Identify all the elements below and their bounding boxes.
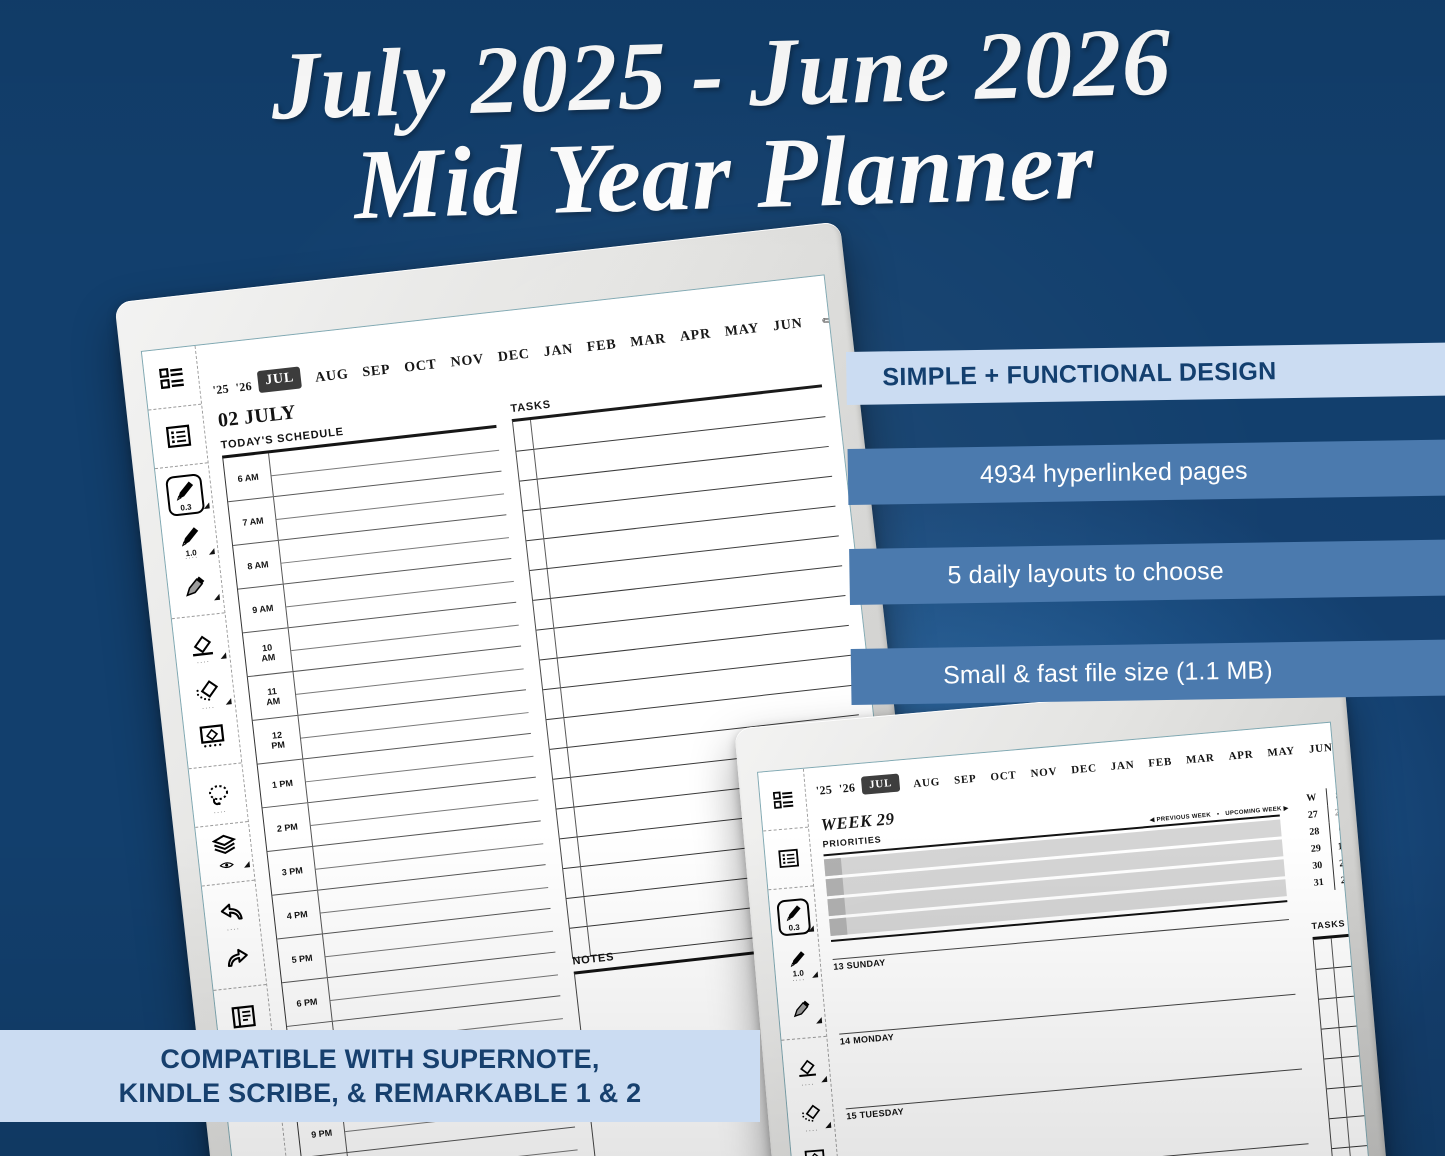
layers-icon bbox=[211, 833, 239, 875]
month-tab-may[interactable]: MAY bbox=[724, 321, 760, 341]
lasso-select-icon bbox=[205, 782, 232, 809]
toolbar-pen-fine[interactable]: 0.3 bbox=[769, 892, 818, 942]
month-tab-jun[interactable]: JUN bbox=[772, 316, 803, 335]
page-template-icon bbox=[230, 1004, 257, 1031]
toolbar-lasso-select[interactable]: ···· bbox=[189, 769, 247, 821]
hour-label: 4 PM bbox=[272, 891, 323, 939]
list-view-icon bbox=[777, 848, 799, 870]
tool-divider-dots: ···· bbox=[801, 1081, 815, 1089]
month-tab-jan[interactable]: JAN bbox=[543, 342, 574, 361]
year-tab-2[interactable]: '26 bbox=[838, 780, 855, 796]
feature-item-label: Small & fast file size (1.1 MB) bbox=[887, 656, 1273, 691]
toolbar-eraser-area[interactable] bbox=[790, 1134, 839, 1156]
toolbar-eraser-partial[interactable]: ···· bbox=[786, 1089, 835, 1139]
pen-fine-icon: 0.3 bbox=[776, 898, 811, 937]
hour-label: 5 PM bbox=[277, 934, 328, 982]
month-tab-feb[interactable]: FEB bbox=[586, 337, 617, 356]
tool-options-caret[interactable] bbox=[213, 594, 220, 601]
feature-item-2: 5 daily layouts to choose bbox=[849, 539, 1445, 605]
tool-options-caret[interactable] bbox=[225, 698, 232, 705]
week-title: WEEK 29 bbox=[820, 809, 895, 835]
tool-divider-dots: ···· bbox=[805, 1127, 819, 1135]
toolbar-group: ···· bbox=[189, 763, 248, 828]
tool-options-caret[interactable] bbox=[808, 925, 815, 932]
hour-label: 6 AM bbox=[223, 453, 274, 501]
tool-divider-dots: ···· bbox=[226, 926, 240, 934]
hour-label: 7 AM bbox=[228, 497, 279, 545]
pen-bold-icon: 1.0 bbox=[176, 523, 204, 558]
year-tab-1[interactable]: '25 bbox=[212, 382, 230, 399]
toolbar-marker[interactable] bbox=[777, 984, 826, 1034]
feature-item-label: 4934 hyperlinked pages bbox=[884, 456, 1248, 491]
toolbar-list-view[interactable] bbox=[149, 411, 207, 463]
hour-label: 1 PM bbox=[258, 759, 309, 807]
tasks-label-weekly: TASKS bbox=[1311, 918, 1346, 931]
toolbar-layout-grid[interactable] bbox=[759, 775, 808, 825]
eye-icon bbox=[218, 857, 234, 874]
month-tab-dec[interactable]: DEC bbox=[1071, 762, 1098, 776]
month-tab-oct[interactable]: OCT bbox=[990, 769, 1017, 783]
feature-header: SIMPLE + FUNCTIONAL DESIGN bbox=[846, 342, 1445, 405]
toolbar-group bbox=[142, 346, 201, 411]
toolbar-list-view[interactable] bbox=[764, 834, 813, 884]
toolbar-layers[interactable] bbox=[196, 828, 254, 880]
month-tab-aug[interactable]: AUG bbox=[913, 776, 941, 790]
hour-label: 9 AM bbox=[238, 585, 289, 633]
hour-label: 10AM bbox=[243, 628, 294, 676]
tool-options-caret[interactable] bbox=[203, 502, 210, 509]
month-tab-jan[interactable]: JAN bbox=[1110, 759, 1135, 773]
pen-fine-icon: 0.3 bbox=[165, 473, 205, 517]
tool-divider-dots: ···· bbox=[792, 976, 806, 984]
undo-icon bbox=[218, 899, 245, 926]
eraser-area-icon bbox=[198, 723, 225, 750]
layout-grid-icon bbox=[158, 365, 185, 392]
toolbar-group bbox=[758, 769, 808, 832]
feature-item-1: 4934 hyperlinked pages bbox=[848, 439, 1445, 505]
feature-header-label: SIMPLE + FUNCTIONAL DESIGN bbox=[882, 357, 1277, 392]
eraser-icon bbox=[796, 1057, 818, 1079]
priorities-block[interactable] bbox=[823, 814, 1287, 942]
tablet-screen-weekly: 0.31.0···················· '25'26JULAUGS… bbox=[758, 723, 1373, 1156]
month-tab-nov[interactable]: NOV bbox=[450, 352, 485, 372]
hour-label: 2 PM bbox=[263, 803, 314, 851]
month-tab-jul[interactable]: JUL bbox=[861, 774, 900, 795]
week-number[interactable]: 31 bbox=[1307, 873, 1335, 892]
toolbar-eraser[interactable]: ···· bbox=[173, 619, 231, 671]
tool-divider-dots: ···· bbox=[196, 658, 210, 666]
eraser-partial-icon bbox=[193, 678, 220, 705]
month-tab-feb[interactable]: FEB bbox=[1148, 756, 1173, 770]
hour-label: 11AM bbox=[248, 672, 299, 720]
year-tab-1[interactable]: '25 bbox=[815, 782, 832, 798]
toolbar-eraser[interactable]: ···· bbox=[782, 1043, 831, 1093]
tool-size-label: 0.3 bbox=[180, 503, 192, 512]
hour-label: 12PM bbox=[253, 716, 304, 764]
eraser-partial-icon bbox=[800, 1103, 822, 1125]
toolbar-pen-bold[interactable]: 1.0···· bbox=[773, 938, 822, 988]
tool-divider-dots: ···· bbox=[213, 808, 227, 816]
year-tab-2[interactable]: '26 bbox=[235, 379, 253, 396]
tool-options-caret[interactable] bbox=[816, 1017, 823, 1024]
toolbar-group bbox=[195, 822, 254, 887]
day-rows[interactable]: 13 SUNDAY14 MONDAY15 TUESDAY16 WEDNESDAY bbox=[833, 919, 1315, 1156]
eraser-icon bbox=[188, 632, 215, 659]
tool-divider-dots: ···· bbox=[185, 554, 199, 562]
tool-options-caret[interactable] bbox=[812, 971, 819, 978]
month-tab-jun[interactable]: JUN bbox=[1308, 742, 1333, 756]
banner-line-1: COMPATIBLE WITH SUPERNOTE, bbox=[160, 1042, 599, 1076]
redo-icon bbox=[223, 945, 250, 972]
toolbar-pen-fine[interactable]: 0.3 bbox=[156, 469, 214, 521]
layout-grid-icon bbox=[772, 789, 794, 811]
hour-label: 6 PM bbox=[282, 978, 333, 1026]
tool-options-caret[interactable] bbox=[220, 652, 227, 659]
month-tab-may[interactable]: MAY bbox=[1267, 745, 1296, 759]
tablet-weekly-preview: 0.31.0···················· '25'26JULAUGS… bbox=[734, 675, 1392, 1156]
toolbar-group bbox=[149, 405, 208, 470]
feature-item-3: Small & fast file size (1.1 MB) bbox=[851, 639, 1445, 705]
week-nav-separator: • bbox=[1217, 811, 1220, 817]
toolbar-pen-bold[interactable]: 1.0···· bbox=[161, 515, 219, 567]
weekly-planner-page: '25'26JULAUGSEPOCTNOVDECJANFEBMARAPRMAYJ… bbox=[804, 723, 1374, 1156]
pen-bold-icon: 1.0 bbox=[786, 948, 808, 979]
feature-item-label: 5 daily layouts to choose bbox=[885, 557, 1224, 591]
month-tab-apr[interactable]: APR bbox=[679, 326, 712, 345]
month-tab-nov[interactable]: NOV bbox=[1030, 766, 1058, 780]
month-tab-apr[interactable]: APR bbox=[1228, 749, 1254, 763]
month-tab-mar[interactable]: MAR bbox=[630, 331, 667, 351]
toolbar-group bbox=[763, 828, 813, 891]
month-tab-sep[interactable]: SEP bbox=[362, 362, 392, 381]
month-tab-jul[interactable]: JUL bbox=[257, 366, 302, 393]
toolbar-layout-grid[interactable] bbox=[143, 352, 201, 404]
month-tab-sep[interactable]: SEP bbox=[954, 773, 978, 787]
eraser-area-icon bbox=[804, 1148, 826, 1156]
tool-options-caret[interactable] bbox=[208, 548, 215, 555]
marker-icon bbox=[791, 998, 813, 1020]
poster-canvas: July 2025 - June 2026 Mid Year Planner 0… bbox=[0, 0, 1445, 1156]
marker-icon bbox=[182, 573, 209, 600]
toolbar-redo[interactable] bbox=[208, 932, 266, 984]
month-tab-oct[interactable]: OCT bbox=[403, 357, 437, 377]
hour-label: 8 AM bbox=[233, 541, 284, 589]
hour-label: 3 PM bbox=[267, 847, 318, 895]
compatibility-banner: COMPATIBLE WITH SUPERNOTE, KINDLE SCRIBE… bbox=[0, 1030, 760, 1122]
priorities-label: PRIORITIES bbox=[822, 834, 882, 849]
tool-divider-dots: ···· bbox=[202, 704, 216, 712]
list-view-icon bbox=[165, 423, 192, 450]
tool-options-caret[interactable] bbox=[825, 1122, 832, 1129]
month-tab-aug[interactable]: AUG bbox=[314, 367, 349, 387]
tool-size-label: 0.3 bbox=[788, 924, 800, 933]
month-tab-dec[interactable]: DEC bbox=[497, 347, 531, 366]
toolbar-eraser-area[interactable] bbox=[183, 711, 241, 763]
toolbar-eraser-partial[interactable]: ···· bbox=[178, 665, 236, 717]
tasks-label: TASKS bbox=[510, 399, 552, 415]
banner-line-2: KINDLE SCRIBE, & REMARKABLE 1 & 2 bbox=[119, 1076, 642, 1110]
tool-options-caret[interactable] bbox=[821, 1076, 828, 1083]
toolbar-marker[interactable] bbox=[166, 561, 224, 613]
feature-list: SIMPLE + FUNCTIONAL DESIGN4934 hyperlink… bbox=[846, 342, 1445, 705]
tool-options-caret[interactable] bbox=[243, 861, 250, 868]
month-tab-mar[interactable]: MAR bbox=[1186, 752, 1216, 766]
toolbar-undo[interactable]: ···· bbox=[203, 887, 261, 939]
